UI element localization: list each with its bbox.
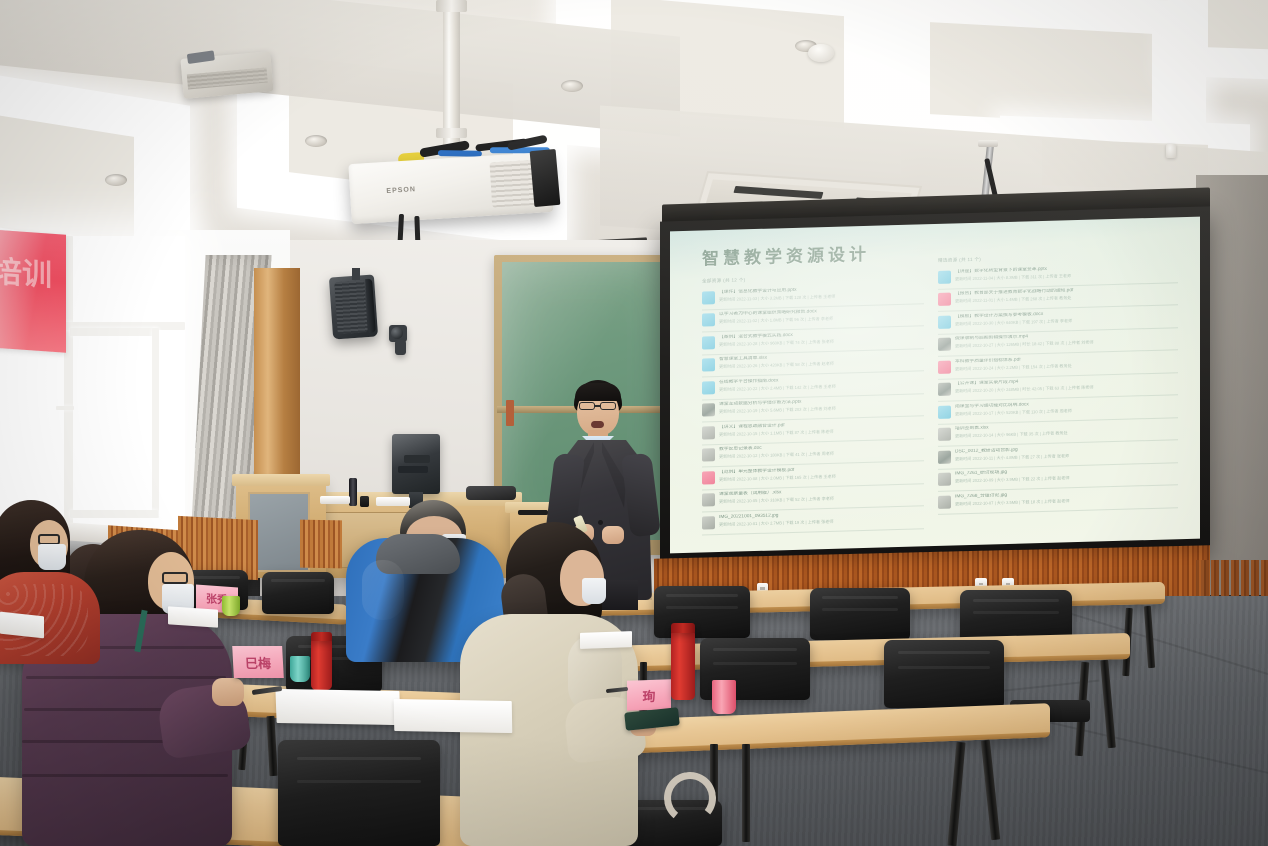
pdf-icon-pink	[938, 360, 951, 373]
file-text: IMG_7268_分组讨论.jpg更新时间 2022-10-07 | 大小 3.…	[955, 488, 1178, 507]
thumb-icon	[938, 383, 951, 396]
chair[interactable]	[884, 640, 1004, 708]
window-sash-frame	[152, 328, 159, 518]
doc-icon-cyan	[702, 313, 715, 326]
chair[interactable]	[654, 586, 750, 638]
left-file-list: 【课件】信息化教学设计与应用.pptx更新时间 2022-11-03 | 大小 …	[702, 281, 924, 535]
glasses-bridge	[595, 405, 601, 407]
file-text: 【课件】信息化教学设计与应用.pptx更新时间 2022-11-03 | 大小 …	[719, 284, 924, 303]
projector-mount-pole	[443, 0, 460, 148]
file-text: 【范例】单元整体教学设计模板.pdf更新时间 2022-10-08 | 大小 2…	[719, 464, 924, 483]
puffer-quilt-line	[22, 774, 228, 777]
pdf-icon-pink	[702, 471, 715, 484]
file-text: IMG_7261_研讨现场.jpg更新时间 2022-10-09 | 大小 3.…	[955, 465, 1178, 484]
file-text: 课堂互动数据分析与学情诊断方法.pptx更新时间 2022-10-19 | 大小…	[719, 396, 924, 415]
epson-projector: EPSON	[348, 152, 553, 224]
recessed-downlight	[105, 174, 127, 186]
file-text: 【讲义】课程思政融合设计.pdf更新时间 2022-10-15 | 大小 1.1…	[719, 419, 924, 438]
gray-icon	[938, 495, 951, 508]
red-banner: 培训	[0, 229, 66, 352]
green-cup	[222, 596, 240, 616]
gray-icon	[702, 426, 715, 439]
file-text: 微课录制与后期剪辑操作演示.mp4更新时间 2022-10-27 | 大小 12…	[955, 330, 1178, 349]
glasses-icon	[579, 402, 595, 410]
speaker-bracket	[352, 268, 360, 280]
file-text: 在线教学平台操作指南.docx更新时间 2022-10-22 | 大小 2.4M…	[719, 374, 924, 393]
podium-monitor-arm	[404, 455, 430, 463]
jacket-shoulder-highlight	[362, 560, 404, 620]
file-text: 课堂观察量表（试用版）.xlsx更新时间 2022-10-05 | 大小 310…	[719, 486, 924, 505]
name-card-text: 珣	[642, 685, 655, 704]
gray-icon	[938, 473, 951, 486]
name-card: 珣	[627, 679, 671, 711]
file-text: 【案例】混合式教学模式实践.docx更新时间 2022-10-28 | 大小 9…	[719, 329, 924, 348]
file-text: 以学习者为中心的课堂组织策略研究报告.docx更新时间 2022-11-02 |…	[719, 306, 924, 325]
file-row[interactable]: IMG_20221001_093512.jpg更新时间 2022-10-01 |…	[702, 506, 924, 535]
chair[interactable]	[262, 572, 334, 614]
doc-icon-cyan	[938, 270, 951, 283]
glasses-icon	[162, 572, 188, 584]
file-text: 【报告】教育部关于推进教育数字化战略行动的通知.pdf更新时间 2022-11-…	[955, 285, 1178, 304]
chair[interactable]	[810, 588, 910, 640]
equipment-cabinet-top	[232, 474, 330, 486]
recessed-downlight	[561, 80, 583, 92]
gray-icon	[702, 516, 715, 529]
face-mask	[38, 544, 66, 570]
file-text: 教学反思记录表.doc更新时间 2022-10-12 | 大小 180KB | …	[719, 441, 924, 460]
right-file-list: 【讲座】数字化转型背景下的课堂变革.pptx更新时间 2022-11-04 | …	[938, 260, 1178, 514]
projector-mount-collar	[436, 0, 467, 12]
podium-monitor	[392, 434, 440, 494]
chalk-holder	[506, 400, 514, 426]
doc-icon-cyan	[938, 315, 951, 328]
desk-bag	[466, 486, 516, 500]
chair[interactable]	[278, 740, 440, 846]
gray-icon	[702, 493, 715, 506]
projector-lens-shroud	[530, 149, 561, 207]
name-card: 巳梅	[232, 646, 284, 678]
file-text: 本科教学质量评价指标体系.pdf更新时间 2022-10-24 | 大小 2.2…	[955, 353, 1178, 372]
paper-sheet	[0, 612, 44, 639]
presenter-mouth	[591, 421, 604, 428]
podium-remote	[518, 510, 548, 515]
attendee-red-top	[0, 500, 104, 660]
classroom-photo: EPSON 培训 智慧教学资源设计 全部资	[0, 0, 1268, 846]
gray-icon	[938, 428, 951, 441]
file-text: 培训签到表.xlsx更新时间 2022-10-14 | 大小 96KB | 下载…	[955, 420, 1178, 439]
doc-icon-cyan	[702, 291, 715, 304]
thermos-cap	[311, 632, 332, 641]
red-thermos	[671, 630, 695, 700]
doc-icon-cyan	[702, 336, 715, 349]
teal-cup	[290, 656, 310, 682]
wall-speaker	[329, 275, 378, 340]
thumb-icon	[702, 403, 715, 416]
thumb-icon	[938, 338, 951, 351]
doc-icon-cyan	[702, 381, 715, 394]
file-text: IMG_20221001_093512.jpg更新时间 2022-10-01 |…	[719, 509, 924, 528]
face-mask	[582, 578, 606, 604]
podium-monitor-arm	[398, 466, 428, 473]
smoke-detector	[808, 44, 834, 62]
doc-icon-cyan	[938, 405, 951, 418]
file-text: DSC_0012_教研活动合影.jpg更新时间 2022-10-11 | 大小 …	[955, 443, 1178, 462]
window-handle	[56, 406, 74, 410]
file-text: 【公开课】课堂实录片段.mp4更新时间 2022-10-20 | 大小 248M…	[955, 375, 1178, 394]
thumb-icon	[938, 450, 951, 463]
glasses-icon	[600, 402, 616, 410]
doc-icon-cyan	[702, 358, 715, 371]
presenter-hair-top	[575, 383, 621, 401]
wooden-wall-column	[254, 268, 300, 508]
file-text: 雨课堂与学习通功能对比说明.docx更新时间 2022-10-17 | 大小 5…	[955, 398, 1178, 417]
attendee-hand	[212, 678, 244, 706]
wall-camera-mount	[395, 340, 406, 355]
screen-drop-bracket-cap	[978, 140, 998, 147]
file-text: 智慧课堂工具清单.xlsx更新时间 2022-10-26 | 大小 420KB …	[719, 351, 924, 370]
paper-sheet	[394, 699, 513, 733]
desk-leg	[742, 744, 750, 842]
paper-sheet	[168, 606, 218, 627]
ceiling-sensor-box	[180, 51, 273, 99]
paper-sheet	[580, 631, 632, 649]
pdf-icon-pink	[938, 293, 951, 306]
wood-slat-wainscot-left	[300, 520, 342, 569]
attendee-beige-blazer	[448, 522, 648, 846]
projector-mount-collar	[436, 128, 467, 138]
recessed-downlight	[305, 135, 327, 147]
paper-sheet	[275, 689, 400, 725]
projector-brand-label: EPSON	[386, 187, 416, 196]
sprinkler-head	[1166, 144, 1176, 158]
name-card-text: 巳梅	[245, 652, 272, 671]
file-text: 【模板】教学设计方案撰写参考模板.docx更新时间 2022-10-30 | 大…	[955, 308, 1178, 327]
file-text: 【讲座】数字化转型背景下的课堂变革.pptx更新时间 2022-11-04 | …	[955, 263, 1178, 282]
projection-screen: 智慧教学资源设计 全部资源 (共 12 个) 【课件】信息化教学设计与应用.pp…	[670, 217, 1200, 554]
slide-left-column: 全部资源 (共 12 个) 【课件】信息化教学设计与应用.pptx更新时间 20…	[702, 272, 924, 535]
slide-right-column: 精选资源 (共 11 个) 【讲座】数字化转型背景下的课堂变革.pptx更新时间…	[938, 251, 1178, 514]
red-thermos	[311, 638, 332, 690]
pink-cup	[712, 680, 736, 714]
gray-icon	[702, 448, 715, 461]
window-sash-frame	[70, 328, 158, 336]
slide-title: 智慧教学资源设计	[702, 240, 870, 270]
puffer-quilt-line	[26, 676, 226, 679]
thermos-cap	[671, 623, 695, 633]
ceiling-light-panel	[1168, 0, 1268, 84]
